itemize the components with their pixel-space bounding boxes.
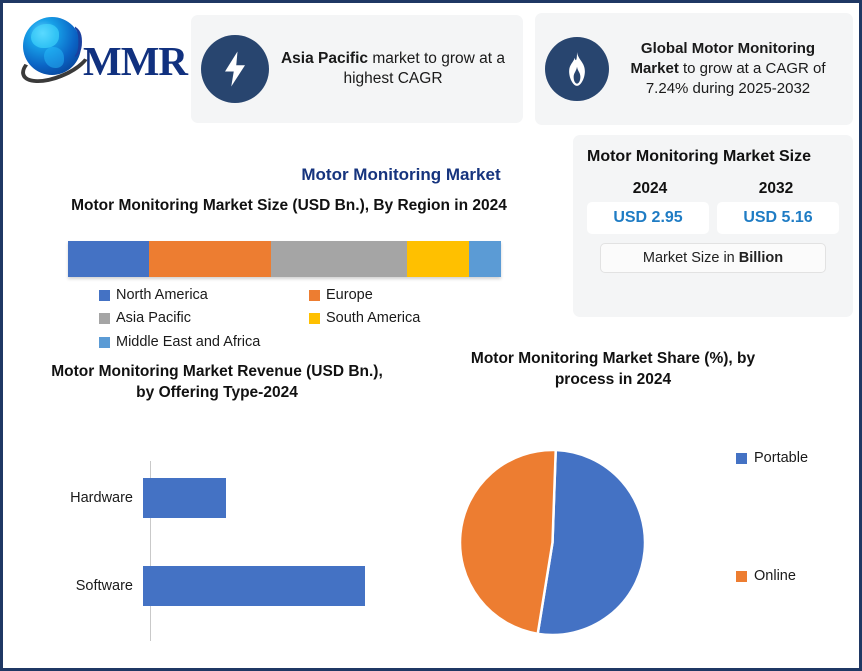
region-legend-label: South America: [326, 307, 420, 329]
offering-bar-label: Software: [47, 578, 143, 594]
offering-bar-row: Software: [47, 565, 387, 607]
pie-legend-item: Portable: [736, 450, 808, 466]
flame-icon: [545, 37, 609, 101]
logo-wordmark: MMR: [83, 37, 187, 85]
region-segment: [407, 241, 469, 277]
market-size-unit-note: Market Size in Billion: [600, 243, 827, 273]
region-legend-label: Europe: [326, 284, 373, 306]
market-size-title: Motor Monitoring Market Size: [587, 147, 839, 168]
region-legend-item: Europe: [309, 284, 519, 306]
region-legend-label: North America: [116, 284, 208, 306]
pie-slice: Online 48%: [460, 450, 556, 634]
offering-bar-row: Hardware: [47, 477, 387, 519]
region-legend-item: South America: [309, 307, 519, 329]
offering-bar-fill: [143, 478, 226, 518]
region-chart-title: Motor Monitoring Market Size (USD Bn.), …: [65, 196, 513, 217]
region-chart-legend: North AmericaEuropeAsia PacificSouth Ame…: [99, 284, 519, 354]
region-segment: [68, 241, 149, 277]
process-pie-legend: PortableOnline: [736, 450, 856, 590]
callout-text-global-cagr: Global Motor Monitoring Market to grow a…: [617, 39, 843, 98]
lightning-bolt-icon: [201, 35, 269, 103]
process-pie-title: Motor Monitoring Market Share (%), by pr…: [443, 348, 783, 391]
market-size-value-2032: USD 5.16: [717, 202, 839, 234]
market-size-unit-prefix: Market Size in: [643, 250, 739, 266]
market-size-year-2032: 2032: [759, 180, 793, 198]
callout-bold-asia-pacific: Asia Pacific: [281, 50, 368, 67]
market-size-year-2024: 2024: [633, 180, 667, 198]
region-segment: [469, 241, 501, 277]
region-legend-label: Middle East and Africa: [116, 331, 260, 353]
mmr-logo: ) MMR: [11, 9, 187, 87]
legend-swatch-icon: [736, 453, 747, 464]
callout-card-global-cagr: Global Motor Monitoring Market to grow a…: [535, 13, 853, 125]
process-share-pie: Portable 52%Online 48%: [460, 450, 645, 635]
region-legend-item: North America: [99, 284, 309, 306]
region-legend-item: Middle East and Africa: [99, 331, 309, 353]
market-size-value-row: USD 2.95 USD 5.16: [587, 202, 839, 234]
pie-legend-item: Online: [736, 568, 796, 584]
page-title: Motor Monitoring Market: [271, 165, 531, 185]
pie-legend-label: Online: [754, 568, 796, 584]
region-legend-item: Asia Pacific: [99, 307, 309, 329]
market-size-year-row: 2024 2032: [587, 180, 839, 198]
region-segment: [149, 241, 271, 277]
region-legend-label: Asia Pacific: [116, 307, 191, 329]
legend-swatch-icon: [736, 571, 747, 582]
offering-bar-fill: [143, 566, 365, 606]
legend-swatch-icon: [309, 290, 320, 301]
pie-legend-label: Portable: [754, 450, 808, 466]
market-size-value-2024: USD 2.95: [587, 202, 709, 234]
region-stacked-bar: [68, 241, 501, 277]
legend-swatch-icon: [99, 290, 110, 301]
offering-bar-label: Hardware: [47, 490, 143, 506]
offering-chart-title: Motor Monitoring Market Revenue (USD Bn.…: [47, 361, 387, 404]
market-size-unit-bold: Billion: [739, 250, 783, 266]
callout-card-asia-pacific: Asia Pacific market to grow at a highest…: [191, 15, 523, 123]
callout-text-asia-pacific: Asia Pacific market to grow at a highest…: [277, 49, 513, 90]
legend-swatch-icon: [99, 313, 110, 324]
legend-swatch-icon: [99, 337, 110, 348]
market-size-panel: Motor Monitoring Market Size 2024 2032 U…: [573, 135, 853, 317]
region-segment: [271, 241, 407, 277]
legend-swatch-icon: [309, 313, 320, 324]
logo-hook-mark: ): [74, 21, 83, 59]
callout-rest-asia-pacific: market to grow at a highest CAGR: [343, 50, 505, 87]
infographic-canvas: ) MMR Asia Pacific market to grow at a h…: [0, 0, 862, 671]
offering-bar-chart: HardwareSoftware: [47, 455, 387, 647]
